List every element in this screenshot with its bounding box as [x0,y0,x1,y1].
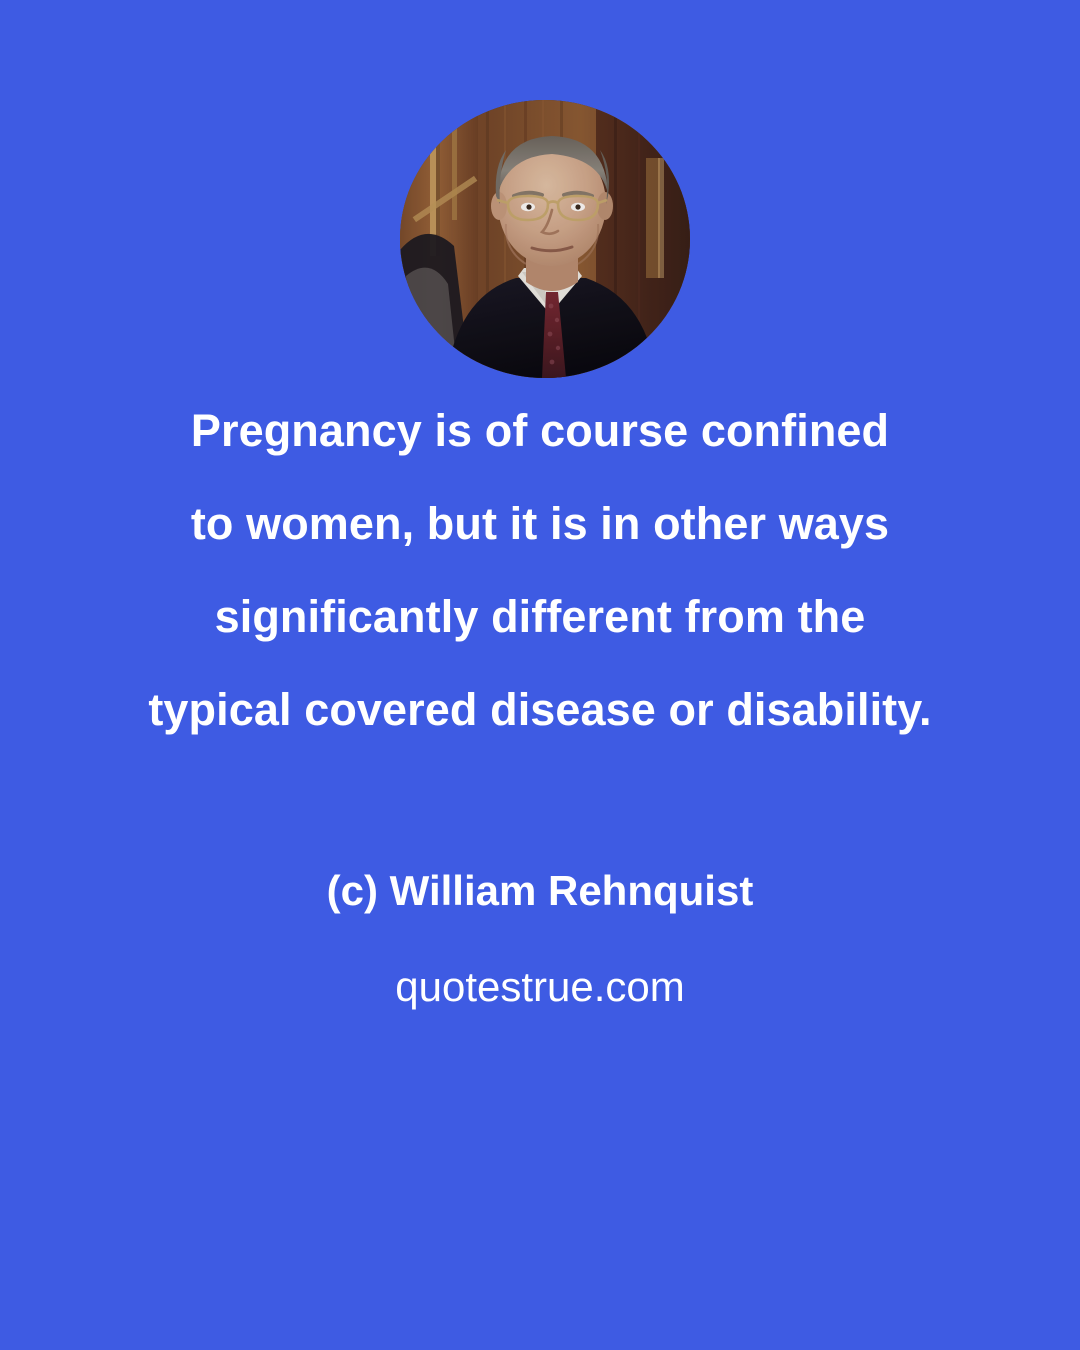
quote-line: Pregnancy is of course confined [0,384,1080,477]
quote-line: significantly different from the [0,570,1080,663]
source-site-label: quotestrue.com [0,962,1080,1012]
quote-text: Pregnancy is of course confined to women… [0,384,1080,756]
quote-line: typical covered disease or disability. [0,663,1080,756]
portrait-photo [400,100,690,378]
quote-attribution: (c) William Rehnquist [0,866,1080,916]
quote-line: to women, but it is in other ways [0,477,1080,570]
quote-card: Pregnancy is of course confined to women… [0,0,1080,1350]
portrait-avatar [400,100,690,378]
